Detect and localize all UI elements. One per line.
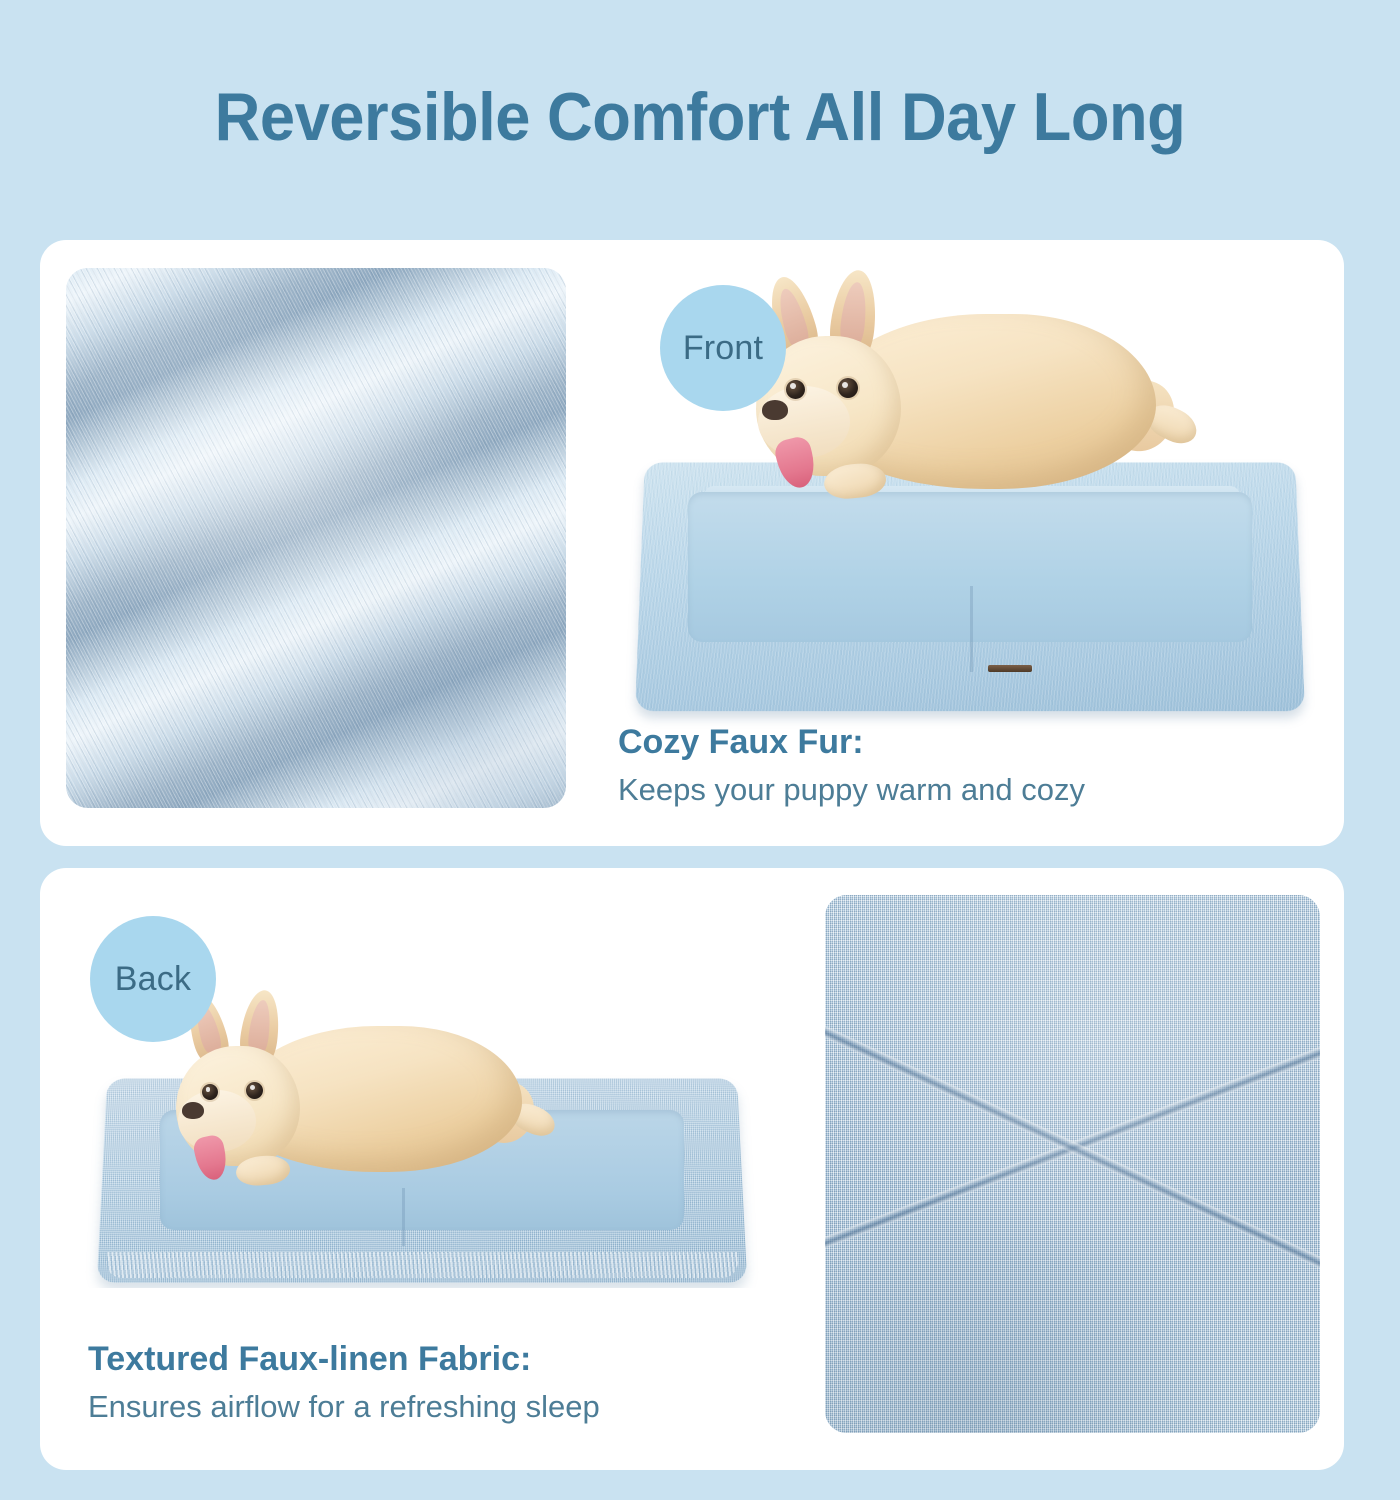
dog-eye-left	[202, 1084, 218, 1100]
dog-nose	[182, 1102, 204, 1119]
feature-card-back: Back Textured Faux-linen Fabric: Ensures…	[40, 868, 1344, 1470]
bed-fur-edge	[106, 1252, 738, 1278]
caption-front: Cozy Faux Fur: Keeps your puppy warm and…	[618, 721, 1085, 810]
dog-eye-left	[786, 380, 805, 399]
dog-ear-inner-right	[839, 281, 869, 345]
feature-card-front: Front Cozy Faux Fur: Keeps your puppy wa…	[40, 240, 1344, 846]
dog-nose	[762, 400, 788, 420]
fur-sheen-overlay	[66, 268, 566, 808]
faux-fur-texture-photo	[66, 268, 566, 808]
dog-ear-inner-right	[247, 999, 273, 1053]
bed-center-seam	[402, 1188, 405, 1246]
caption-front-subtitle: Keeps your puppy warm and cozy	[618, 770, 1085, 810]
bed-brand-tag	[988, 665, 1032, 672]
caption-back: Textured Faux-linen Fabric: Ensures airf…	[88, 1338, 600, 1427]
faux-linen-texture-photo	[825, 895, 1320, 1433]
dog-eye-right	[246, 1082, 263, 1099]
badge-back: Back	[90, 916, 216, 1042]
caption-front-title: Cozy Faux Fur:	[618, 721, 1085, 764]
pet-bed-fleece-side	[640, 460, 1300, 710]
caption-back-subtitle: Ensures airflow for a refreshing sleep	[88, 1387, 600, 1427]
bed-center-seam	[970, 586, 973, 672]
linen-shading-overlay	[825, 895, 1320, 1433]
badge-front: Front	[660, 285, 786, 411]
dog-eye-right	[838, 378, 858, 398]
caption-back-title: Textured Faux-linen Fabric:	[88, 1338, 600, 1381]
page-title: Reversible Comfort All Day Long	[49, 78, 1351, 156]
